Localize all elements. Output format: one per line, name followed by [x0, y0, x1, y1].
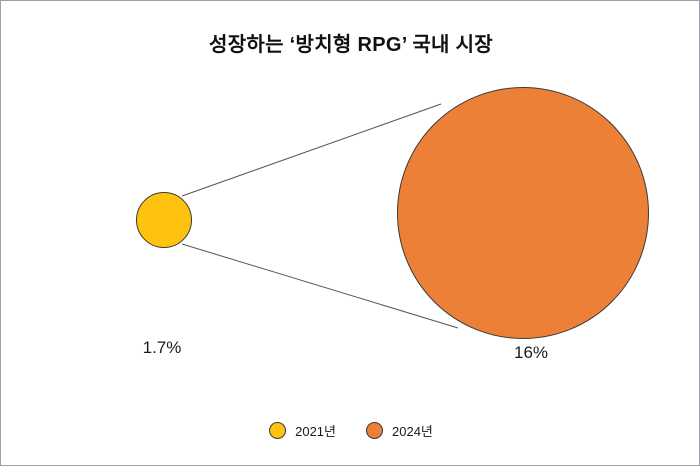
legend-item-2024[interactable]: 2024년 [366, 421, 433, 440]
bubble-plot-area: 1.7% 16% [1, 1, 700, 466]
legend-label-2021: 2021년 [295, 421, 336, 440]
legend-item-2021[interactable]: 2021년 [269, 421, 336, 440]
bubble-value-label-2021: 1.7% [114, 338, 210, 358]
bubble-value-label-2024: 16% [483, 343, 579, 363]
chart-canvas: 성장하는 ‘방치형 RPG’ 국내 시장 1.7% 16% 2021년 2024… [0, 0, 700, 466]
legend-swatch-circle-icon-2024 [366, 422, 383, 439]
legend-swatch-circle-icon-2021 [269, 422, 286, 439]
bubble-2024[interactable] [397, 87, 649, 339]
chart-legend: 2021년 2024년 [1, 421, 700, 440]
legend-label-2024: 2024년 [392, 421, 433, 440]
bubble-2021[interactable] [136, 192, 192, 248]
